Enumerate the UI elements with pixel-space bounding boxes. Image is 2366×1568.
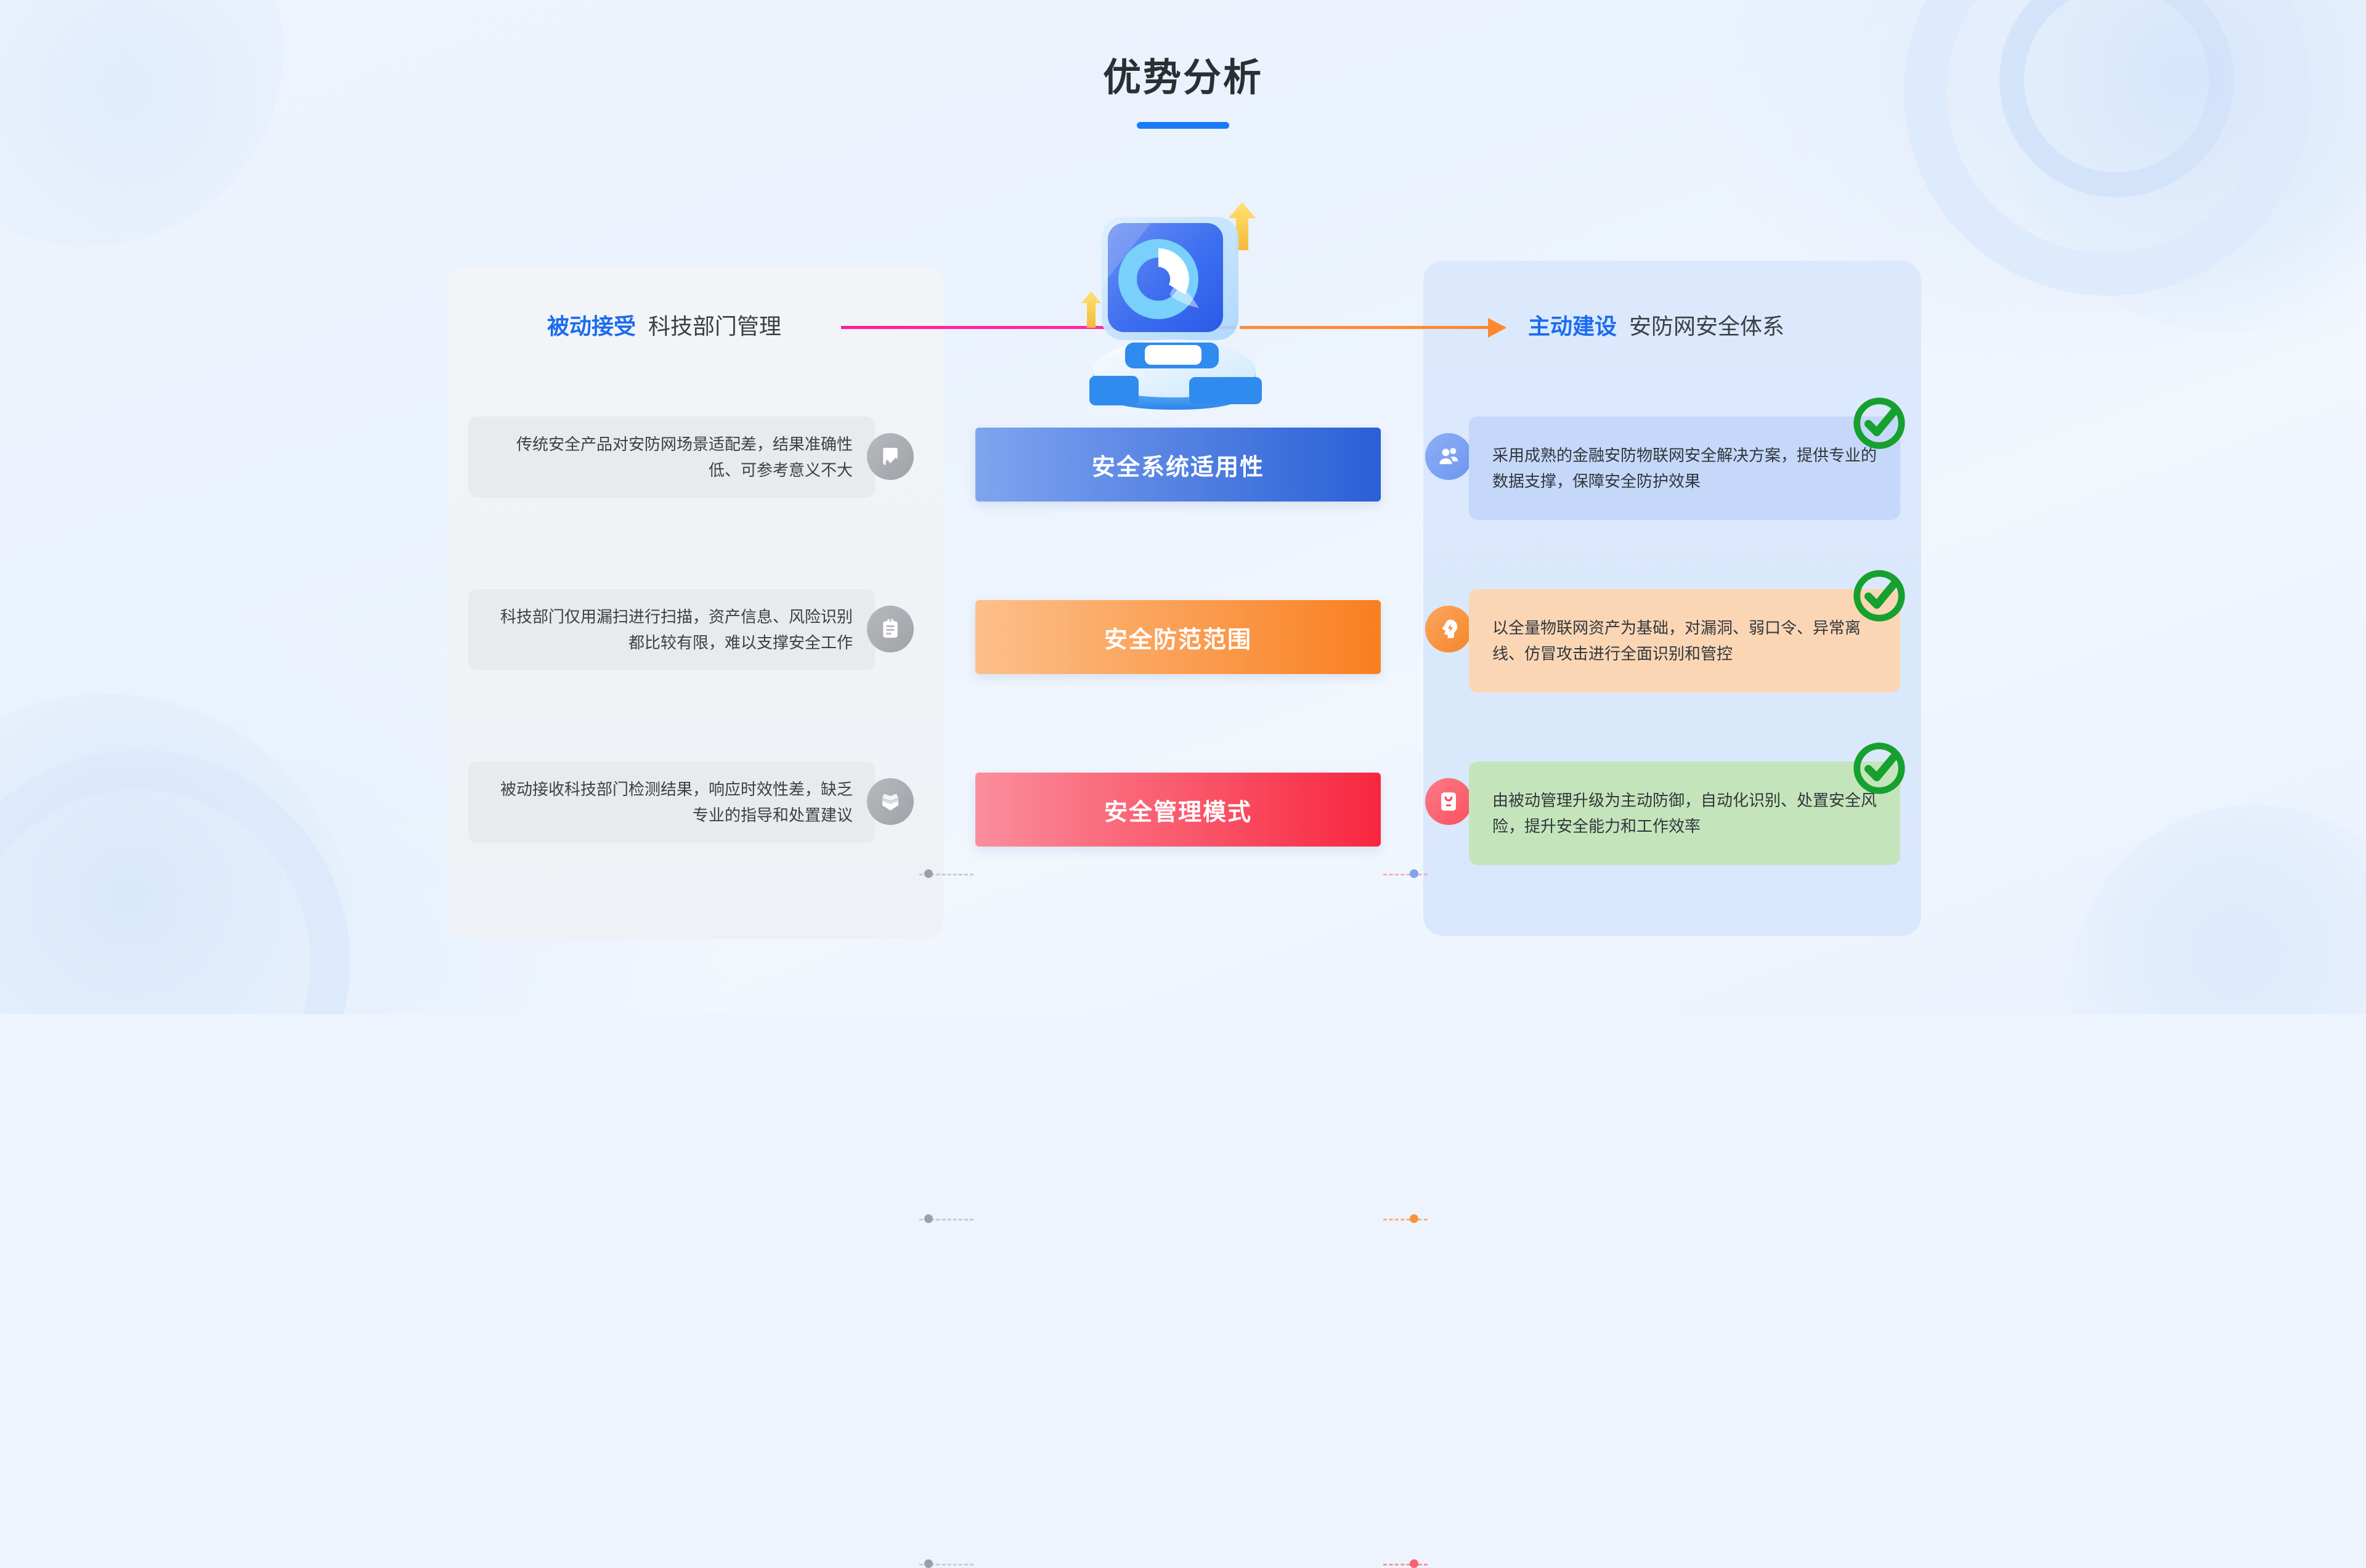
right-header-highlight: 主动建设 bbox=[1528, 314, 1617, 339]
comparison-row-1: 科技部门仅用漏扫进行扫描，资产信息、风险识别都比较有限，难以支撑安全工作 安全防… bbox=[0, 589, 2366, 706]
left-connector-dot-1 bbox=[924, 1214, 933, 1223]
green-check-circle-icon-0 bbox=[1850, 394, 1908, 452]
center-bar-label-0: 安全系统适用性 bbox=[1092, 448, 1264, 482]
head-lightning-icon bbox=[1425, 606, 1472, 652]
right-connector-dot-1 bbox=[1410, 1214, 1418, 1223]
clipboard-lines-icon bbox=[867, 606, 914, 652]
right-item-card-0: 采用成熟的金融安防物联网安全解决方案，提供专业的数据支撑，保障安全防护效果 bbox=[1469, 416, 1900, 520]
left-item-text-0: 传统安全产品对安防网场景适配差，结果准确性低、可参考意义不大 bbox=[490, 431, 853, 483]
title-block: 优势分析 bbox=[0, 59, 2366, 129]
right-header-rest: 安防网安全体系 bbox=[1629, 314, 1784, 339]
right-column-header: 主动建设 安防网安全体系 bbox=[1528, 315, 1784, 338]
green-check-circle-icon-1 bbox=[1850, 567, 1908, 625]
page-title: 优势分析 bbox=[0, 59, 2366, 97]
left-column-header: 被动接受 科技部门管理 bbox=[547, 315, 781, 338]
comparison-row-2: 被动接收科技部门检测结果，响应时效性差，缺乏专业的指导和处置建议 安全管理模式 … bbox=[0, 762, 2366, 879]
right-connector-dot-2 bbox=[1410, 1559, 1418, 1568]
center-bar-2: 安全管理模式 bbox=[975, 773, 1381, 847]
left-connector-dot-2 bbox=[924, 1559, 933, 1568]
right-item-card-2: 由被动管理升级为主动防御，自动化识别、处置安全风险，提升安全能力和工作效率 bbox=[1469, 762, 1900, 865]
left-item-text-1: 科技部门仅用漏扫进行扫描，资产信息、风险识别都比较有限，难以支撑安全工作 bbox=[490, 604, 853, 656]
left-item-card-0: 传统安全产品对安防网场景适配差，结果准确性低、可参考意义不大 bbox=[468, 416, 875, 498]
title-underline bbox=[1137, 122, 1229, 129]
document-face-icon bbox=[1425, 778, 1472, 825]
center-bar-0: 安全系统适用性 bbox=[975, 428, 1381, 502]
left-item-card-1: 科技部门仅用漏扫进行扫描，资产信息、风险识别都比较有限，难以支撑安全工作 bbox=[468, 589, 875, 670]
dashboard-monitor-illustration bbox=[1072, 191, 1282, 413]
center-bar-1: 安全防范范围 bbox=[975, 600, 1381, 674]
center-bar-label-1: 安全防范范围 bbox=[1104, 620, 1252, 654]
center-bar-label-2: 安全管理模式 bbox=[1104, 793, 1252, 827]
up-arrow-left-icon bbox=[1081, 291, 1101, 328]
right-item-text-2: 由被动管理升级为主动防御，自动化识别、处置安全风险，提升安全能力和工作效率 bbox=[1492, 787, 1877, 839]
right-item-text-0: 采用成熟的金融安防物联网安全解决方案，提供专业的数据支撑，保障安全防护效果 bbox=[1492, 442, 1877, 494]
right-item-text-1: 以全量物联网资产为基础，对漏洞、弱口令、异常离线、仿冒攻击进行全面识别和管控 bbox=[1492, 615, 1877, 667]
left-item-text-2: 被动接收科技部门检测结果，响应时效性差，缺乏专业的指导和处置建议 bbox=[490, 776, 853, 828]
left-header-rest: 科技部门管理 bbox=[648, 314, 781, 339]
left-item-card-2: 被动接收科技部门检测结果，响应时效性差，缺乏专业的指导和处置建议 bbox=[468, 762, 875, 843]
open-box-icon bbox=[867, 778, 914, 825]
right-connector-2 bbox=[1383, 1564, 1428, 1566]
right-connector-1 bbox=[1383, 1219, 1428, 1221]
left-header-highlight: 被动接受 bbox=[547, 314, 636, 339]
comparison-row-0: 传统安全产品对安防网场景适配差，结果准确性低、可参考意义不大 安全系统适用性 采… bbox=[0, 416, 2366, 534]
clipboard-check-icon bbox=[867, 433, 914, 480]
two-users-icon bbox=[1425, 433, 1472, 480]
right-item-card-1: 以全量物联网资产为基础，对漏洞、弱口令、异常离线、仿冒攻击进行全面识别和管控 bbox=[1469, 589, 1900, 693]
green-check-circle-icon-2 bbox=[1850, 739, 1908, 797]
